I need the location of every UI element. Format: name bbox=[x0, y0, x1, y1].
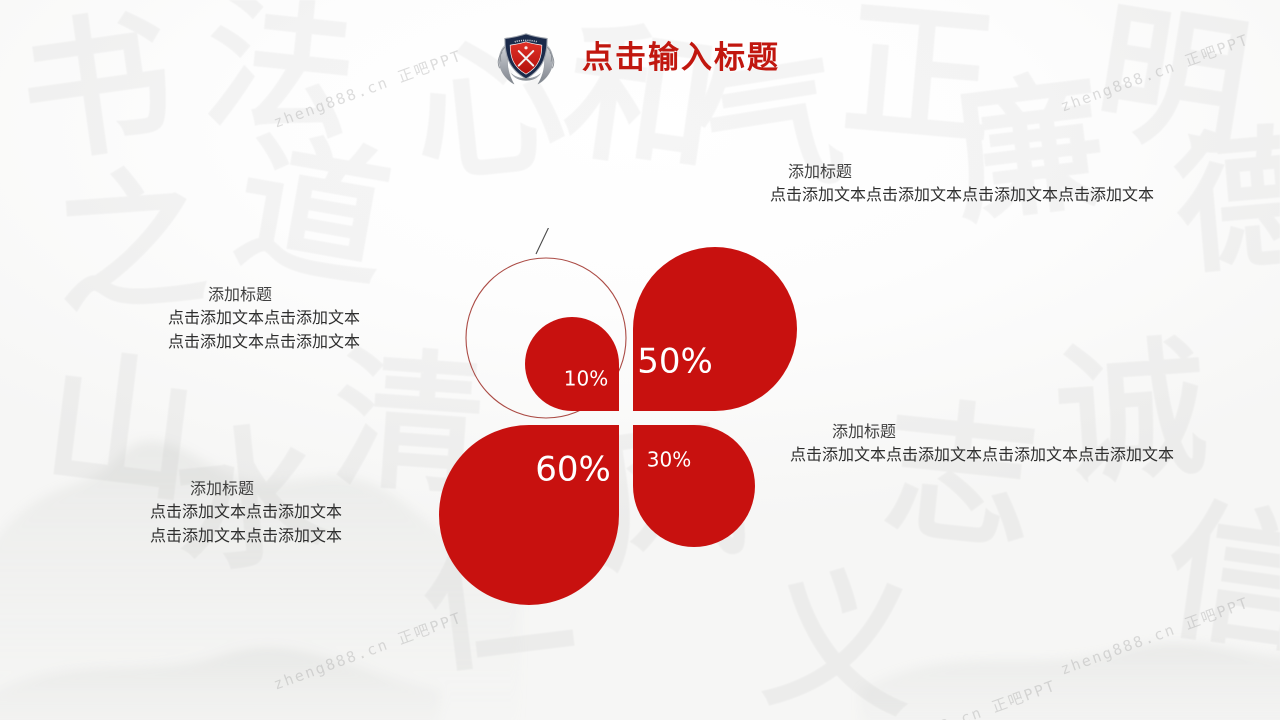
svg-text:志: 志 bbox=[876, 383, 1043, 572]
callout-title: 添加标题 bbox=[790, 420, 1174, 443]
petal-label-10: 10% bbox=[564, 367, 608, 391]
callout-left-upper[interactable]: 添加标题 点击添加文本点击添加文本 点击添加文本点击添加文本 bbox=[168, 283, 360, 354]
site-watermark: zheng888.cn 正吧PPT bbox=[864, 675, 1059, 720]
petal-top-left: 10% bbox=[525, 317, 619, 411]
petal-label-60: 60% bbox=[535, 450, 611, 490]
svg-text:诚: 诚 bbox=[1050, 322, 1212, 506]
callout-leader-line bbox=[536, 228, 662, 254]
callout-body: 点击添加文本点击添加文本点击添加文本点击添加文本 bbox=[790, 443, 1174, 467]
petal-bottom-left: 60% bbox=[439, 425, 619, 605]
callout-title: 添加标题 bbox=[150, 477, 342, 500]
callout-top-right[interactable]: 添加标题 点击添加文本点击添加文本点击添加文本点击添加文本 bbox=[770, 160, 1154, 207]
page-title: 点击输入标题 bbox=[582, 43, 780, 74]
slide-canvas: 书 法 之 道 心 和 气 正 廉 明 德 山 水 清 风 志 诚 信 仁 义 bbox=[0, 0, 1280, 720]
petal-label-50: 50% bbox=[637, 342, 713, 382]
fire-service-emblem-icon bbox=[493, 26, 559, 92]
site-watermark: zheng888.cn 正吧PPT bbox=[270, 607, 465, 695]
clover-chart: 10% 50% 30% 60% bbox=[436, 228, 816, 608]
callout-title: 添加标题 bbox=[168, 283, 360, 306]
callout-body-line-1: 点击添加文本点击添加文本 bbox=[150, 500, 342, 524]
callout-left-lower[interactable]: 添加标题 点击添加文本点击添加文本 点击添加文本点击添加文本 bbox=[150, 477, 342, 548]
slide-header: 点击输入标题 bbox=[0, 0, 1280, 110]
petal-bottom-right: 30% bbox=[633, 425, 755, 547]
svg-text:德: 德 bbox=[1168, 109, 1280, 295]
svg-text:信: 信 bbox=[1155, 483, 1280, 676]
petal-top-right: 50% bbox=[633, 247, 797, 411]
callout-right-lower[interactable]: 添加标题 点击添加文本点击添加文本点击添加文本点击添加文本 bbox=[790, 420, 1174, 467]
callout-body: 点击添加文本点击添加文本点击添加文本点击添加文本 bbox=[770, 183, 1154, 207]
svg-text:道: 道 bbox=[224, 114, 402, 311]
petal-label-30: 30% bbox=[647, 448, 691, 472]
callout-body-line-2: 点击添加文本点击添加文本 bbox=[150, 524, 342, 548]
callout-body-line-2: 点击添加文本点击添加文本 bbox=[168, 330, 360, 354]
callout-body-line-1: 点击添加文本点击添加文本 bbox=[168, 306, 360, 330]
site-watermark: zheng888.cn 正吧PPT bbox=[1057, 592, 1252, 680]
callout-title: 添加标题 bbox=[770, 160, 1154, 183]
